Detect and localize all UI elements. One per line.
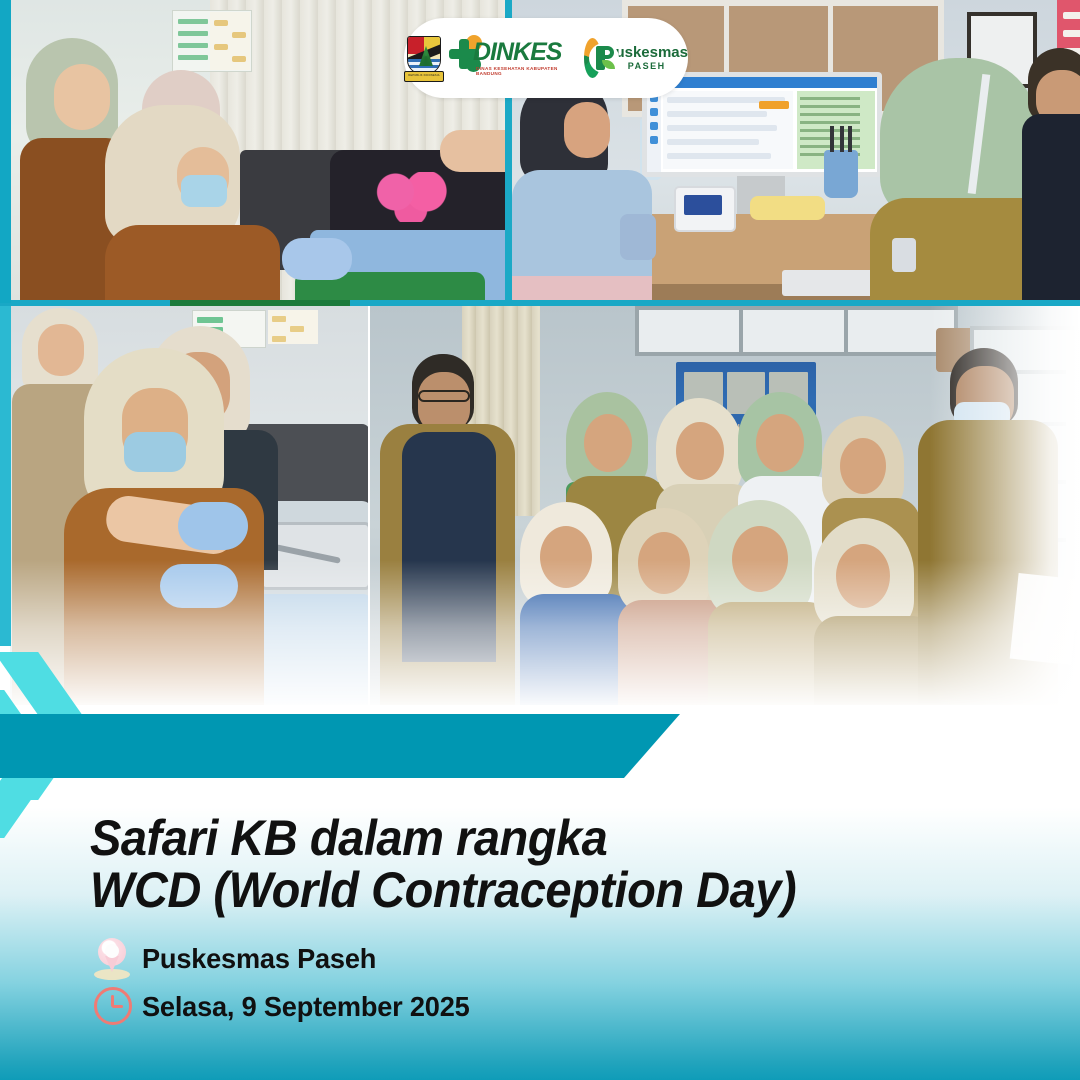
event-meta: Puskesmas Paseh Selasa, 9 September 2025 bbox=[90, 935, 990, 1031]
dinkes-subtitle: DINAS KESEHATAN KABUPATEN BANDUNG bbox=[476, 66, 577, 76]
person-nurse-foreground bbox=[105, 105, 250, 300]
date-label: Selasa, 9 September 2025 bbox=[142, 991, 470, 1023]
page-title: Safari KB dalam rangka WCD (World Contra… bbox=[90, 812, 936, 916]
dinkes-logo: DINKES DINAS KESEHATAN KABUPATEN BANDUNG bbox=[449, 32, 577, 84]
location-label: Puskesmas Paseh bbox=[142, 943, 376, 975]
meta-row-date: Selasa, 9 September 2025 bbox=[90, 983, 990, 1031]
window bbox=[635, 306, 958, 356]
medical-glove bbox=[282, 238, 352, 280]
crest-ribbon-text: REPUBLIK INDONESIA bbox=[405, 72, 443, 79]
medical-glove-upper bbox=[178, 502, 248, 550]
location-pin-icon bbox=[90, 936, 134, 982]
supplies-bag bbox=[750, 196, 825, 220]
shirt-graphic bbox=[370, 172, 455, 222]
collage-divider-green-accent bbox=[170, 300, 350, 306]
blood-pressure-monitor bbox=[674, 186, 736, 232]
collage-bottom-fade bbox=[0, 560, 1080, 710]
collage-edge-left-bottom bbox=[0, 306, 11, 646]
puskesmas-logo: Puskesmas PASEH bbox=[584, 32, 688, 84]
wall-poster-yellow bbox=[210, 12, 250, 70]
collage-edge-left-top bbox=[0, 0, 11, 303]
teal-banner-bar bbox=[0, 714, 680, 778]
photo-collage: PELAYANAN KB SERENTAK bbox=[0, 0, 1080, 705]
puskesmas-mark-icon bbox=[584, 38, 601, 78]
dinkes-wordmark: DINKES bbox=[473, 38, 561, 67]
patient-blue-hoodie bbox=[512, 78, 662, 300]
collage-right-fade bbox=[930, 306, 1080, 706]
pen-holder bbox=[824, 150, 858, 198]
patient-arm bbox=[440, 130, 510, 172]
man-with-glasses bbox=[1022, 48, 1080, 300]
kabupaten-bandung-crest-icon: REPUBLIK INDONESIA bbox=[404, 34, 442, 82]
meta-row-location: Puskesmas Paseh bbox=[90, 935, 990, 983]
logo-header-pill: REPUBLIK INDONESIA DINKES DINAS KESEHATA… bbox=[404, 18, 688, 98]
poster-canvas: PELAYANAN KB SERENTAK bbox=[0, 0, 1080, 1080]
collage-divider-horizontal bbox=[0, 300, 1080, 306]
clock-icon bbox=[90, 984, 134, 1030]
wall-poster-yellow bbox=[268, 310, 318, 344]
